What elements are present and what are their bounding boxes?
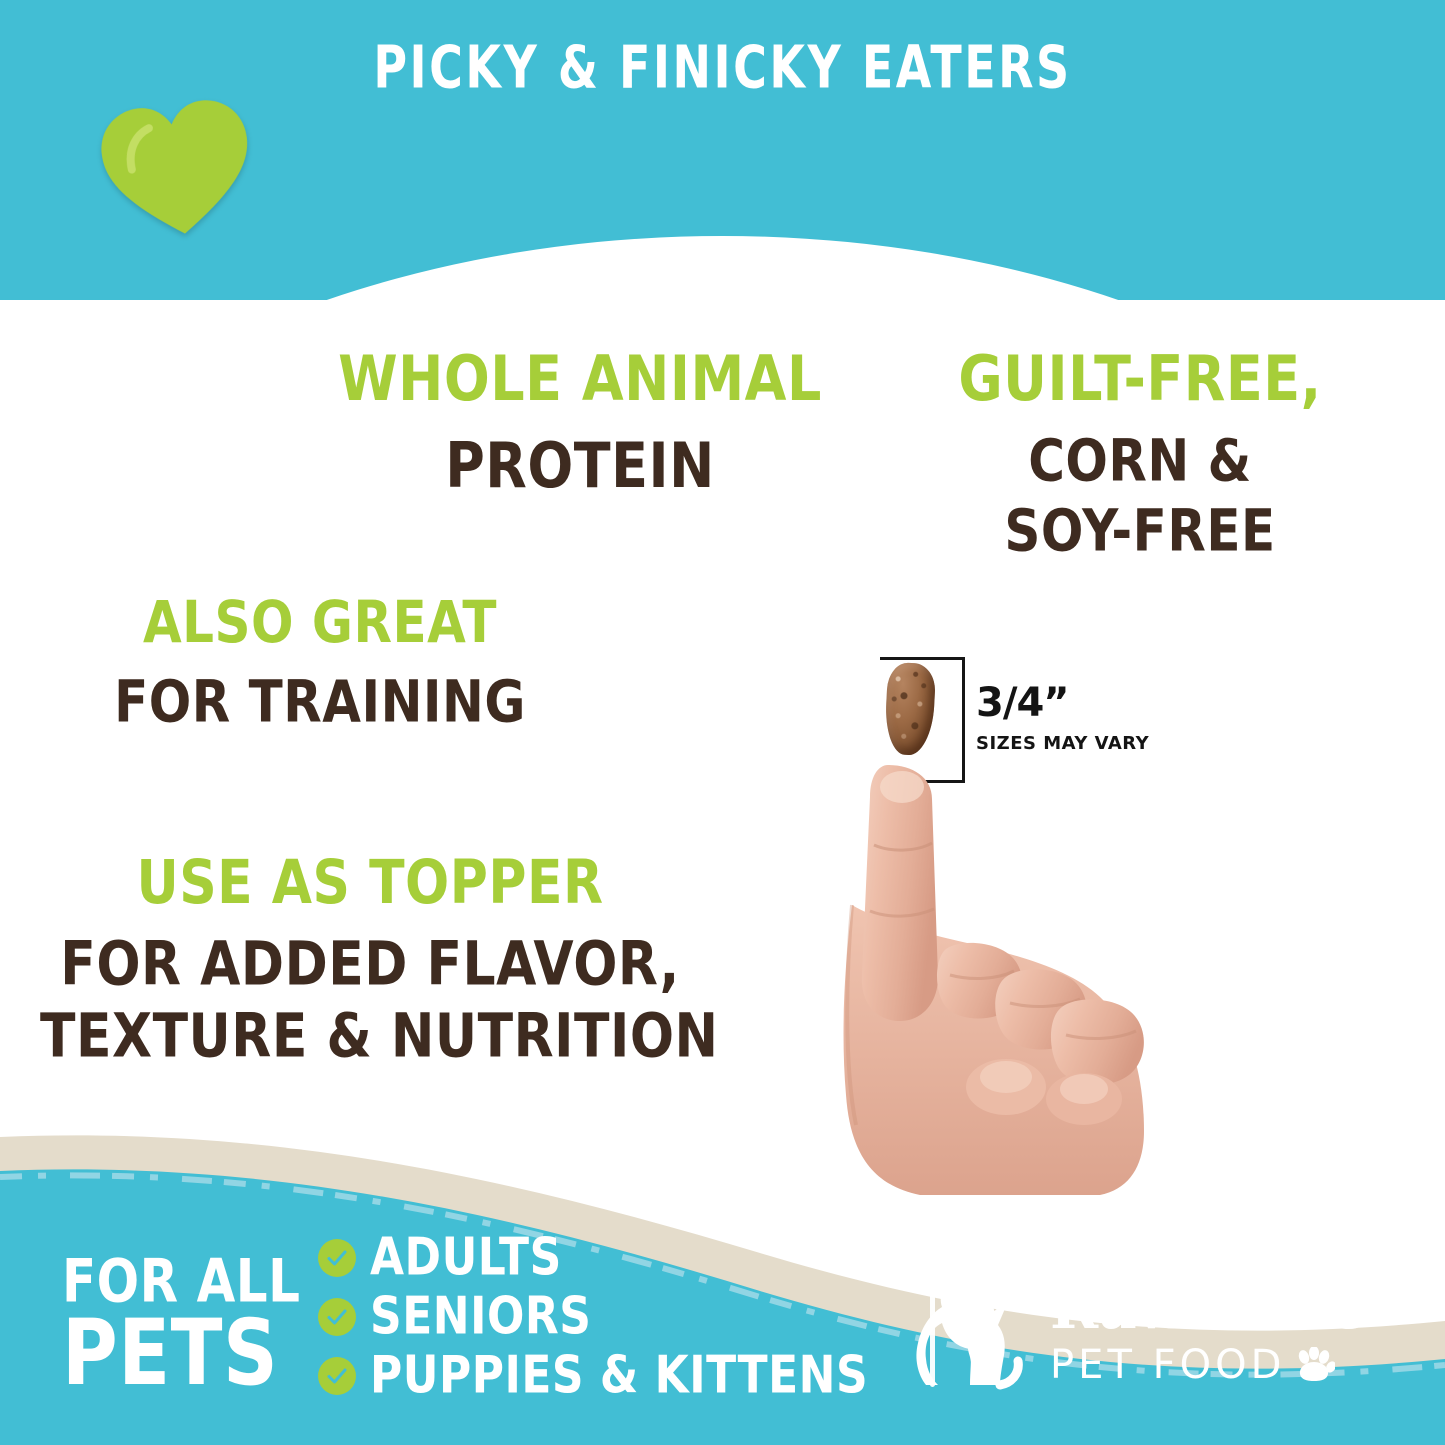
feature-also-great-for-training: ALSO GREAT FOR TRAINING bbox=[60, 598, 580, 726]
registered-trademark-icon: ® bbox=[1368, 1283, 1390, 1305]
list-item: SENIORS bbox=[318, 1291, 868, 1342]
feature-whole-animal-protein: WHOLE ANIMAL PROTEIN bbox=[300, 352, 860, 492]
footer-content: FOR ALL PETS ADULTS SENIORS bbox=[0, 1215, 1445, 1445]
check-circle-icon bbox=[318, 1357, 356, 1395]
header-kicker: PICKY & FINICKY EATERS bbox=[0, 32, 1445, 101]
feature-subline: PROTEIN bbox=[300, 429, 860, 502]
feature-subline: FOR ADDED FLAVOR, bbox=[40, 930, 700, 1000]
heart-icon bbox=[92, 89, 263, 247]
logo-tagline: PET FOOD bbox=[1050, 1345, 1285, 1385]
measurement-value: 3/4” bbox=[976, 683, 1166, 723]
for-all-pets-heading: FOR ALL PETS bbox=[62, 1262, 301, 1397]
header-arc-shape bbox=[0, 236, 1445, 300]
feature-headline: ALSO GREAT bbox=[60, 589, 580, 656]
logo-name: Raw Paws bbox=[1050, 1279, 1365, 1337]
brand-logo: Raw Paws® PET FOOD bbox=[912, 1267, 1389, 1397]
list-item: ADULTS bbox=[318, 1232, 868, 1283]
for-all-line-2: PETS bbox=[62, 1309, 301, 1397]
list-item: PUPPIES & KITTENS bbox=[318, 1350, 868, 1401]
feature-guilt-free: GUILT-FREE, CORN & SOY-FREE bbox=[915, 352, 1365, 555]
feature-use-as-topper: USE AS TOPPER FOR ADDED FLAVOR, TEXTURE … bbox=[40, 858, 700, 1062]
feature-subline: TEXTURE & NUTRITION bbox=[40, 1002, 700, 1072]
feature-subline: CORN & bbox=[915, 427, 1365, 494]
feature-headline: GUILT-FREE, bbox=[915, 342, 1365, 415]
pet-type-label: ADULTS bbox=[370, 1227, 562, 1287]
feature-subline: SOY-FREE bbox=[915, 497, 1365, 564]
paw-print-icon bbox=[1295, 1347, 1335, 1383]
check-circle-icon bbox=[318, 1298, 356, 1336]
check-circle-icon bbox=[318, 1239, 356, 1277]
pet-types-checklist: ADULTS SENIORS PUPPIES & KITTENS bbox=[318, 1232, 868, 1401]
pet-type-label: SENIORS bbox=[370, 1286, 591, 1346]
header-banner: PICKY & FINICKY EATERS bbox=[0, 0, 1445, 300]
pet-type-label: PUPPIES & KITTENS bbox=[370, 1345, 868, 1405]
marketing-poster: PICKY & FINICKY EATERS WHOLE ANIMAL PROT… bbox=[0, 0, 1445, 1445]
logo-name-row: Raw Paws® bbox=[1050, 1279, 1389, 1337]
feature-headline: USE AS TOPPER bbox=[40, 848, 700, 918]
logo-tagline-row: PET FOOD bbox=[1050, 1345, 1389, 1385]
feature-headline: WHOLE ANIMAL bbox=[300, 342, 860, 415]
dog-and-cat-silhouette-icon bbox=[912, 1267, 1032, 1397]
logo-wordmark: Raw Paws® PET FOOD bbox=[1050, 1279, 1389, 1385]
feature-subline: FOR TRAINING bbox=[60, 668, 580, 735]
